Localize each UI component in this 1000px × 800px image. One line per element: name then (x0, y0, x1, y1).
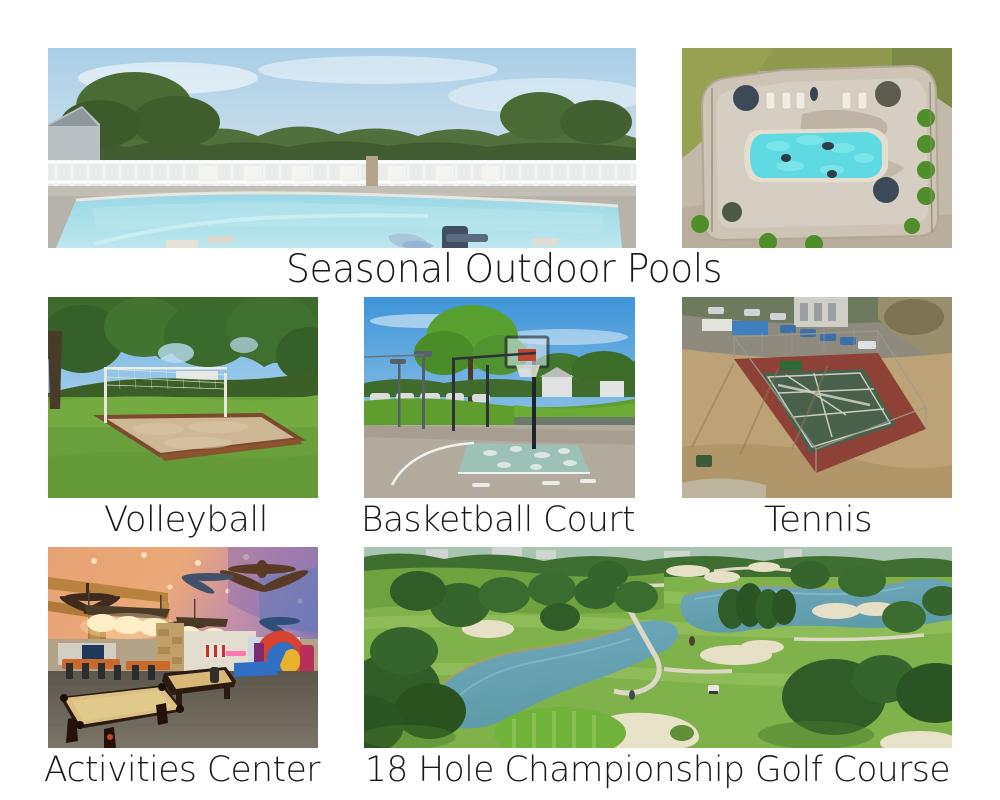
photo-activities-center (48, 547, 318, 748)
photo-tennis-court (682, 297, 952, 498)
amenities-collage: Seasonal Outdoor Pools (0, 0, 1000, 800)
photo-seasonal-pool-main (48, 48, 636, 248)
photo-golf-course (364, 547, 952, 748)
caption-tennis: Tennis (764, 503, 872, 538)
basketball-illustration (364, 297, 635, 498)
caption-golf-course: 18 Hole Championship Golf Course (365, 753, 950, 788)
caption-volleyball: Volleyball (104, 503, 268, 538)
pool-main-illustration (48, 48, 636, 248)
photo-basketball-court (364, 297, 635, 498)
photo-volleyball (48, 297, 318, 498)
tennis-illustration (682, 297, 952, 498)
volleyball-illustration (48, 297, 318, 498)
caption-activities-center: Activities Center (44, 753, 320, 788)
caption-basketball-court: Basketball Court (361, 503, 635, 538)
photo-seasonal-pool-aerial (682, 48, 952, 248)
golf-course-illustration (364, 547, 952, 748)
caption-seasonal-outdoor-pools: Seasonal Outdoor Pools (286, 250, 722, 289)
pool-aerial-illustration (682, 48, 952, 248)
activities-center-illustration (48, 547, 318, 748)
